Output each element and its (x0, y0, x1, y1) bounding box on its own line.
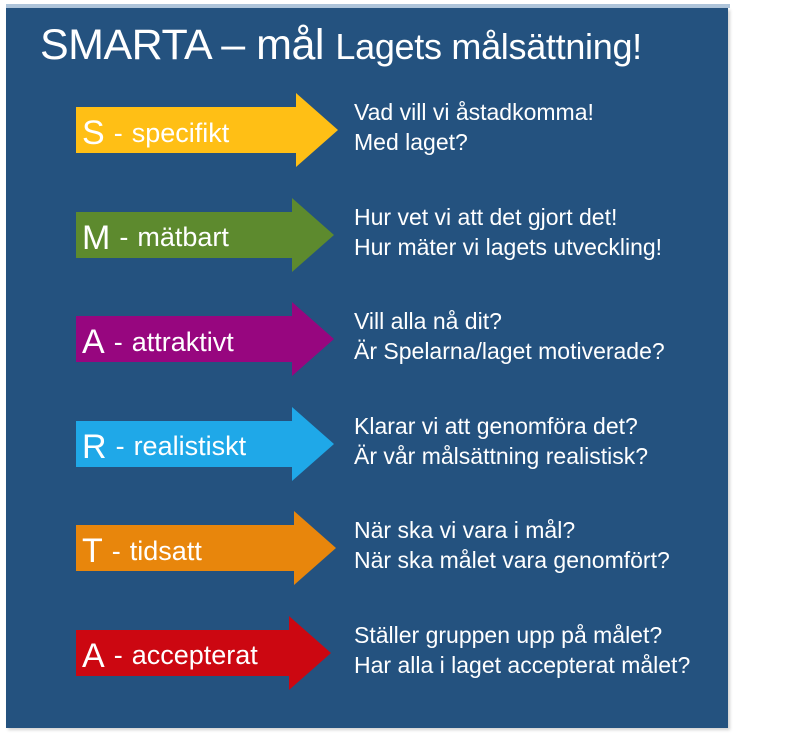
row-question-line: Vill alla nå dit? (354, 306, 665, 336)
arrow-shape (76, 198, 334, 284)
row-question-line: Är Spelarna/laget motiverade? (354, 336, 665, 366)
slide-panel: SMARTA – mål Lagets målsättning! S-speci… (6, 8, 728, 728)
arrow-shape (76, 407, 334, 493)
smarta-row: M-mätbartHur vet vi att det gjort det!Hu… (6, 198, 728, 303)
arrow-shape (76, 616, 331, 702)
row-question-line: Ställer gruppen upp på målet? (354, 620, 690, 650)
row-question-line: Är vår målsättning realistisk? (354, 441, 648, 471)
smarta-row: T-tidsattNär ska vi vara i mål?När ska m… (6, 511, 728, 616)
row-question-line: Hur mäter vi lagets utveckling! (354, 232, 662, 262)
page-title: SMARTA – mål Lagets målsättning! (40, 24, 642, 67)
row-question-text: Vill alla nå dit?Är Spelarna/laget motiv… (354, 306, 665, 366)
row-question-line: Med laget? (354, 127, 594, 157)
row-question-line: Hur vet vi att det gjort det! (354, 202, 662, 232)
row-question-line: När ska vi vara i mål? (354, 515, 670, 545)
page-title-sub: Lagets målsättning! (335, 26, 642, 67)
row-question-text: Vad vill vi åstadkomma!Med laget? (354, 97, 594, 157)
smarta-row: A-attraktivtVill alla nå dit?Är Spelarna… (6, 302, 728, 407)
row-question-line: Vad vill vi åstadkomma! (354, 97, 594, 127)
row-question-text: Klarar vi att genomföra det?Är vår målsä… (354, 411, 648, 471)
row-question-text: Hur vet vi att det gjort det!Hur mäter v… (354, 202, 662, 262)
row-question-line: Har alla i laget accepterat målet? (354, 650, 690, 680)
arrow-shape (76, 511, 336, 597)
smarta-row: S-specifiktVad vill vi åstadkomma!Med la… (6, 93, 728, 198)
row-question-line: Klarar vi att genomföra det? (354, 411, 648, 441)
arrow-shape (76, 302, 334, 388)
row-question-line: När ska målet vara genomfört? (354, 545, 670, 575)
smarta-row: A-accepteratStäller gruppen upp på målet… (6, 616, 728, 721)
row-question-text: När ska vi vara i mål?När ska målet vara… (354, 515, 670, 575)
arrow-shape (76, 93, 338, 179)
page-title-main: SMARTA – mål (40, 21, 335, 69)
smarta-row: R-realistisktKlarar vi att genomföra det… (6, 407, 728, 512)
slide-canvas: SMARTA – mål Lagets målsättning! S-speci… (0, 0, 800, 750)
row-question-text: Ställer gruppen upp på målet?Har alla i … (354, 620, 690, 680)
